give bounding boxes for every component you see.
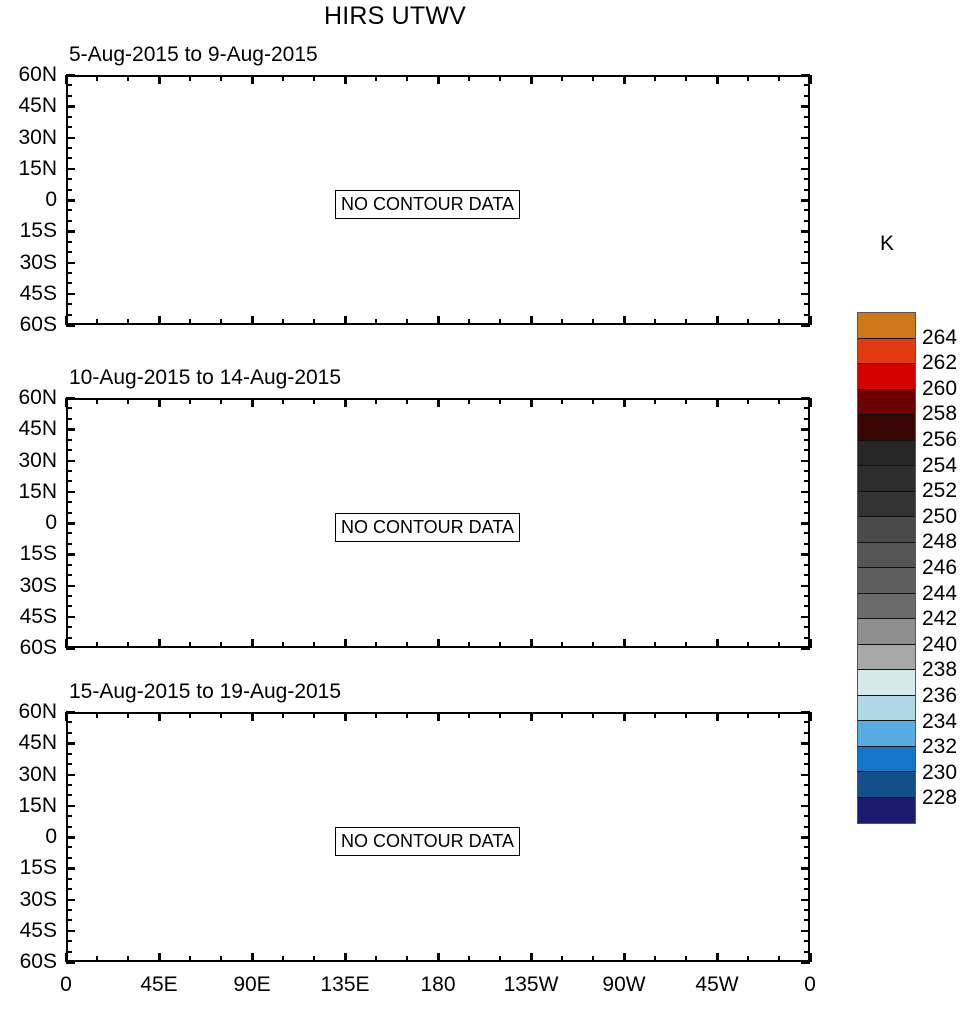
y-axis-minor-tick	[66, 595, 72, 597]
x-axis-minor-tick	[685, 398, 687, 404]
y-axis-minor-tick	[804, 178, 810, 180]
y-axis-minor-tick	[804, 815, 810, 817]
x-axis-minor-tick	[778, 642, 780, 648]
no-contour-data-label-3: NO CONTOUR DATA	[335, 827, 520, 856]
x-axis-major-tick	[623, 639, 626, 648]
x-axis-tick-label: 90W	[602, 973, 645, 997]
x-axis-major-tick	[158, 398, 161, 407]
x-axis-tick-label: 45W	[695, 973, 738, 997]
x-axis-major-tick	[623, 953, 626, 962]
y-axis-tick-label: 60N	[18, 700, 57, 724]
x-axis-minor-tick	[778, 712, 780, 718]
x-axis-minor-tick	[654, 956, 656, 962]
y-axis-minor-tick	[66, 605, 72, 607]
x-axis-major-tick	[251, 953, 254, 962]
x-axis-major-tick	[623, 316, 626, 325]
y-axis-minor-tick	[804, 574, 810, 576]
y-axis-tick-label: 45S	[20, 605, 57, 629]
y-axis-minor-tick	[804, 846, 810, 848]
y-axis-minor-tick	[804, 418, 810, 420]
y-axis-minor-tick	[66, 763, 72, 765]
x-axis-major-tick	[251, 398, 254, 407]
y-axis-minor-tick	[66, 564, 72, 566]
x-axis-major-tick	[344, 316, 347, 325]
y-axis-tick-label: 60N	[18, 63, 57, 87]
colorbar-band	[858, 390, 915, 416]
y-axis-tick-label: 15S	[20, 219, 57, 243]
x-axis-minor-tick	[313, 642, 315, 648]
colorbar-band	[858, 543, 915, 569]
y-axis-major-tick	[801, 930, 810, 933]
y-axis-minor-tick	[66, 543, 72, 545]
x-axis-minor-tick	[468, 319, 470, 325]
x-axis-tick-label: 180	[420, 973, 455, 997]
y-axis-minor-tick	[804, 439, 810, 441]
x-axis-tick-label: 135W	[504, 973, 559, 997]
x-axis-major-tick	[809, 712, 812, 721]
y-axis-minor-tick	[804, 220, 810, 222]
y-axis-major-tick	[66, 491, 75, 494]
x-axis-major-tick	[809, 398, 812, 407]
y-axis-minor-tick	[66, 753, 72, 755]
x-axis-major-tick	[809, 316, 812, 325]
y-axis-minor-tick	[804, 189, 810, 191]
x-axis-minor-tick	[375, 642, 377, 648]
x-axis-minor-tick	[189, 956, 191, 962]
y-axis-major-tick	[801, 867, 810, 870]
y-axis-tick-label: 60S	[20, 950, 57, 974]
x-axis-minor-tick	[685, 712, 687, 718]
y-axis-tick-label: 15S	[20, 542, 57, 566]
y-axis-tick-label: 30S	[20, 888, 57, 912]
colorbar-tick-label: 246	[922, 556, 957, 580]
y-axis-major-tick	[66, 522, 75, 525]
x-axis-minor-tick	[468, 956, 470, 962]
x-axis-minor-tick	[654, 75, 656, 81]
no-contour-data-label-1: NO CONTOUR DATA	[335, 190, 520, 219]
y-axis-tick-label: 0	[45, 188, 57, 212]
y-axis-minor-tick	[66, 626, 72, 628]
y-axis-major-tick	[801, 105, 810, 108]
x-axis-minor-tick	[592, 712, 594, 718]
x-axis-minor-tick	[499, 956, 501, 962]
y-axis-tick-label: 15N	[18, 794, 57, 818]
colorbar-tick-label: 264	[922, 326, 957, 350]
x-axis-minor-tick	[375, 956, 377, 962]
y-axis-minor-tick	[804, 784, 810, 786]
x-axis-minor-tick	[313, 398, 315, 404]
x-axis-minor-tick	[375, 319, 377, 325]
x-axis-tick-label: 45E	[140, 973, 177, 997]
x-axis-minor-tick	[189, 642, 191, 648]
x-axis-major-tick	[530, 953, 533, 962]
x-axis-minor-tick	[468, 75, 470, 81]
x-axis-minor-tick	[282, 398, 284, 404]
y-axis-minor-tick	[66, 846, 72, 848]
colorbar-tick-label: 252	[922, 479, 957, 503]
x-axis-minor-tick	[406, 642, 408, 648]
y-axis-minor-tick	[66, 178, 72, 180]
x-axis-minor-tick	[499, 75, 501, 81]
x-axis-minor-tick	[592, 319, 594, 325]
y-axis-minor-tick	[66, 794, 72, 796]
y-axis-tick-label: 45S	[20, 282, 57, 306]
y-axis-minor-tick	[66, 116, 72, 118]
colorbar-tick-label: 248	[922, 530, 957, 554]
x-axis-minor-tick	[220, 642, 222, 648]
y-axis-tick-label: 15N	[18, 480, 57, 504]
y-axis-minor-tick	[66, 282, 72, 284]
x-axis-minor-tick	[220, 712, 222, 718]
x-axis-major-tick	[251, 712, 254, 721]
y-axis-minor-tick	[804, 282, 810, 284]
y-axis-minor-tick	[804, 303, 810, 305]
x-axis-major-tick	[344, 953, 347, 962]
y-axis-tick-label: 15S	[20, 856, 57, 880]
x-axis-major-tick	[437, 712, 440, 721]
y-axis-tick-label: 30N	[18, 763, 57, 787]
x-axis-minor-tick	[654, 642, 656, 648]
colorbar-band	[858, 696, 915, 722]
y-axis-major-tick	[66, 199, 75, 202]
map-panel-3: 15-Aug-2015 to 19-Aug-2015 NO CONTOUR DA…	[66, 712, 810, 962]
y-axis-tick-label: 60S	[20, 636, 57, 660]
x-axis-minor-tick	[499, 712, 501, 718]
x-axis-minor-tick	[685, 956, 687, 962]
colorbar-tick-label: 230	[922, 761, 957, 785]
x-axis-minor-tick	[406, 398, 408, 404]
x-axis-minor-tick	[747, 319, 749, 325]
x-axis-major-tick	[344, 75, 347, 84]
y-axis-minor-tick	[66, 574, 72, 576]
y-axis-minor-tick	[66, 784, 72, 786]
y-axis-tick-label: 30S	[20, 251, 57, 275]
x-axis-major-tick	[716, 712, 719, 721]
colorbar-tick-label: 250	[922, 505, 957, 529]
x-axis-minor-tick	[189, 398, 191, 404]
y-axis-minor-tick	[66, 826, 72, 828]
colorbar-tick-label: 234	[922, 710, 957, 734]
x-axis-major-tick	[158, 712, 161, 721]
y-axis-minor-tick	[66, 157, 72, 159]
y-axis-minor-tick	[804, 501, 810, 503]
colorbar-tick-label: 256	[922, 428, 957, 452]
y-axis-minor-tick	[804, 909, 810, 911]
y-axis-major-tick	[801, 491, 810, 494]
x-axis-major-tick	[65, 75, 68, 84]
y-axis-minor-tick	[66, 209, 72, 211]
x-axis-major-tick	[530, 639, 533, 648]
colorbar-band	[858, 594, 915, 620]
y-axis-major-tick	[66, 137, 75, 140]
y-axis-minor-tick	[804, 449, 810, 451]
figure-title: HIRS UTWV	[0, 2, 790, 31]
y-axis-major-tick	[801, 522, 810, 525]
y-axis-minor-tick	[66, 857, 72, 859]
x-axis-major-tick	[65, 639, 68, 648]
x-axis-major-tick	[530, 398, 533, 407]
y-axis-major-tick	[801, 616, 810, 619]
y-axis-tick-label: 60S	[20, 313, 57, 337]
y-axis-major-tick	[66, 553, 75, 556]
y-axis-minor-tick	[804, 794, 810, 796]
x-axis-minor-tick	[375, 75, 377, 81]
x-axis-minor-tick	[220, 75, 222, 81]
y-axis-minor-tick	[66, 512, 72, 514]
x-axis-major-tick	[158, 953, 161, 962]
x-axis-major-tick	[623, 712, 626, 721]
x-axis-minor-tick	[96, 642, 98, 648]
colorbar-band	[858, 339, 915, 365]
y-axis-major-tick	[66, 428, 75, 431]
y-axis-minor-tick	[66, 439, 72, 441]
y-axis-minor-tick	[66, 919, 72, 921]
x-axis-minor-tick	[592, 398, 594, 404]
map-panel-1: 5-Aug-2015 to 9-Aug-2015 NO CONTOUR DATA…	[66, 75, 810, 325]
y-axis-minor-tick	[804, 95, 810, 97]
y-axis-minor-tick	[66, 732, 72, 734]
x-axis-minor-tick	[499, 642, 501, 648]
y-axis-minor-tick	[66, 532, 72, 534]
y-axis-major-tick	[66, 805, 75, 808]
x-axis-minor-tick	[778, 75, 780, 81]
y-axis-minor-tick	[66, 721, 72, 723]
y-axis-minor-tick	[66, 501, 72, 503]
y-axis-major-tick	[66, 585, 75, 588]
y-axis-tick-label: 0	[45, 511, 57, 535]
panel-title-2: 10-Aug-2015 to 14-Aug-2015	[69, 366, 341, 390]
colorbar-band	[858, 313, 915, 339]
x-axis-minor-tick	[313, 712, 315, 718]
colorbar-tick-label: 240	[922, 633, 957, 657]
no-contour-data-label-2: NO CONTOUR DATA	[335, 513, 520, 542]
y-axis-minor-tick	[804, 480, 810, 482]
y-axis-minor-tick	[804, 564, 810, 566]
y-axis-major-tick	[801, 293, 810, 296]
x-axis-minor-tick	[747, 956, 749, 962]
x-axis-minor-tick	[282, 319, 284, 325]
x-axis-minor-tick	[220, 398, 222, 404]
y-axis-tick-label: 45N	[18, 94, 57, 118]
x-axis-major-tick	[716, 398, 719, 407]
x-axis-minor-tick	[375, 712, 377, 718]
x-axis-minor-tick	[127, 75, 129, 81]
y-axis-minor-tick	[66, 878, 72, 880]
y-axis-major-tick	[801, 836, 810, 839]
x-axis-minor-tick	[499, 398, 501, 404]
x-axis-minor-tick	[561, 956, 563, 962]
x-axis-major-tick	[716, 639, 719, 648]
y-axis-minor-tick	[66, 940, 72, 942]
x-axis-minor-tick	[282, 642, 284, 648]
y-axis-minor-tick	[804, 595, 810, 597]
y-axis-minor-tick	[804, 543, 810, 545]
y-axis-minor-tick	[804, 272, 810, 274]
x-axis-tick-label: 90E	[233, 973, 270, 997]
x-axis-tick-label: 0	[60, 973, 72, 997]
y-axis-major-tick	[801, 137, 810, 140]
x-axis-minor-tick	[96, 712, 98, 718]
y-axis-minor-tick	[66, 95, 72, 97]
x-axis-minor-tick	[220, 956, 222, 962]
x-axis-minor-tick	[747, 398, 749, 404]
x-axis-major-tick	[530, 75, 533, 84]
colorbar-band	[858, 466, 915, 492]
y-axis-major-tick	[801, 199, 810, 202]
x-axis-minor-tick	[747, 75, 749, 81]
y-axis-minor-tick	[804, 626, 810, 628]
colorbar-band	[858, 415, 915, 441]
y-axis-minor-tick	[804, 763, 810, 765]
x-axis-minor-tick	[220, 319, 222, 325]
x-axis-minor-tick	[96, 319, 98, 325]
y-axis-minor-tick	[66, 909, 72, 911]
y-axis-minor-tick	[804, 826, 810, 828]
y-axis-minor-tick	[66, 220, 72, 222]
x-axis-minor-tick	[654, 712, 656, 718]
colorbar-tick-label: 232	[922, 735, 957, 759]
x-axis-minor-tick	[654, 398, 656, 404]
x-axis-minor-tick	[747, 642, 749, 648]
colorbar-band	[858, 517, 915, 543]
x-axis-minor-tick	[747, 712, 749, 718]
y-axis-minor-tick	[804, 878, 810, 880]
colorbar-unit-label: K	[880, 232, 894, 256]
y-axis-minor-tick	[66, 470, 72, 472]
colorbar-band	[858, 798, 915, 824]
y-axis-major-tick	[801, 230, 810, 233]
x-axis-minor-tick	[282, 956, 284, 962]
x-axis-minor-tick	[189, 75, 191, 81]
y-axis-major-tick	[66, 774, 75, 777]
y-axis-tick-label: 60N	[18, 386, 57, 410]
x-axis-minor-tick	[499, 319, 501, 325]
y-axis-minor-tick	[804, 721, 810, 723]
colorbar-tick-label: 260	[922, 377, 957, 401]
colorbar-tick-label: 258	[922, 402, 957, 426]
x-axis-minor-tick	[468, 642, 470, 648]
x-axis-minor-tick	[654, 319, 656, 325]
y-axis-minor-tick	[804, 84, 810, 86]
x-axis-major-tick	[65, 712, 68, 721]
y-axis-major-tick	[801, 774, 810, 777]
colorbar-band	[858, 747, 915, 773]
y-axis-major-tick	[801, 428, 810, 431]
y-axis-minor-tick	[66, 449, 72, 451]
y-axis-tick-label: 30S	[20, 574, 57, 598]
y-axis-tick-label: 15N	[18, 157, 57, 181]
y-axis-tick-label: 30N	[18, 126, 57, 150]
y-axis-minor-tick	[804, 753, 810, 755]
colorbar-tick-label: 244	[922, 582, 957, 606]
x-axis-major-tick	[158, 75, 161, 84]
x-axis-major-tick	[437, 75, 440, 84]
x-axis-minor-tick	[127, 956, 129, 962]
x-axis-minor-tick	[778, 398, 780, 404]
y-axis-major-tick	[66, 867, 75, 870]
y-axis-major-tick	[66, 105, 75, 108]
y-axis-minor-tick	[804, 241, 810, 243]
y-axis-minor-tick	[804, 209, 810, 211]
y-axis-minor-tick	[804, 407, 810, 409]
y-axis-minor-tick	[66, 272, 72, 274]
x-axis-minor-tick	[592, 75, 594, 81]
y-axis-major-tick	[801, 805, 810, 808]
x-axis-minor-tick	[313, 75, 315, 81]
y-axis-major-tick	[66, 262, 75, 265]
x-axis-major-tick	[65, 316, 68, 325]
y-axis-tick-label: 30N	[18, 449, 57, 473]
x-axis-major-tick	[809, 953, 812, 962]
y-axis-minor-tick	[66, 147, 72, 149]
x-axis-minor-tick	[127, 319, 129, 325]
x-axis-minor-tick	[468, 398, 470, 404]
x-axis-minor-tick	[561, 319, 563, 325]
x-axis-minor-tick	[96, 398, 98, 404]
x-axis-minor-tick	[406, 319, 408, 325]
colorbar-band	[858, 492, 915, 518]
y-axis-minor-tick	[66, 189, 72, 191]
y-axis-major-tick	[66, 168, 75, 171]
y-axis-minor-tick	[804, 732, 810, 734]
colorbar	[857, 312, 916, 824]
y-axis-minor-tick	[804, 857, 810, 859]
colorbar-tick-label: 242	[922, 607, 957, 631]
x-axis-major-tick	[65, 398, 68, 407]
x-axis-major-tick	[716, 953, 719, 962]
x-axis-minor-tick	[406, 956, 408, 962]
y-axis-major-tick	[801, 553, 810, 556]
x-axis-major-tick	[437, 316, 440, 325]
x-axis-minor-tick	[685, 75, 687, 81]
y-axis-tick-label: 45N	[18, 417, 57, 441]
x-axis-minor-tick	[406, 75, 408, 81]
y-axis-minor-tick	[804, 116, 810, 118]
y-axis-minor-tick	[804, 470, 810, 472]
x-axis-minor-tick	[375, 398, 377, 404]
x-axis-minor-tick	[96, 75, 98, 81]
x-axis-tick-label: 135E	[320, 973, 369, 997]
colorbar-band	[858, 441, 915, 467]
figure-canvas: HIRS UTWV 5-Aug-2015 to 9-Aug-2015 NO CO…	[0, 0, 967, 1013]
x-axis-major-tick	[251, 75, 254, 84]
y-axis-major-tick	[66, 899, 75, 902]
y-axis-minor-tick	[804, 888, 810, 890]
map-panel-2: 10-Aug-2015 to 14-Aug-2015 NO CONTOUR DA…	[66, 398, 810, 648]
y-axis-minor-tick	[804, 251, 810, 253]
x-axis-minor-tick	[468, 712, 470, 718]
x-axis-major-tick	[716, 316, 719, 325]
y-axis-minor-tick	[804, 919, 810, 921]
x-axis-major-tick	[437, 953, 440, 962]
x-axis-minor-tick	[592, 642, 594, 648]
y-axis-minor-tick	[66, 407, 72, 409]
colorbar-tick-label: 236	[922, 684, 957, 708]
y-axis-minor-tick	[66, 251, 72, 253]
y-axis-major-tick	[801, 168, 810, 171]
x-axis-major-tick	[344, 639, 347, 648]
x-axis-major-tick	[344, 712, 347, 721]
colorbar-band	[858, 364, 915, 390]
x-axis-minor-tick	[561, 642, 563, 648]
x-axis-major-tick	[809, 639, 812, 648]
x-axis-major-tick	[623, 75, 626, 84]
x-axis-minor-tick	[592, 956, 594, 962]
x-axis-major-tick	[344, 398, 347, 407]
y-axis-major-tick	[801, 460, 810, 463]
x-axis-minor-tick	[96, 956, 98, 962]
colorbar-tick-label: 254	[922, 454, 957, 478]
